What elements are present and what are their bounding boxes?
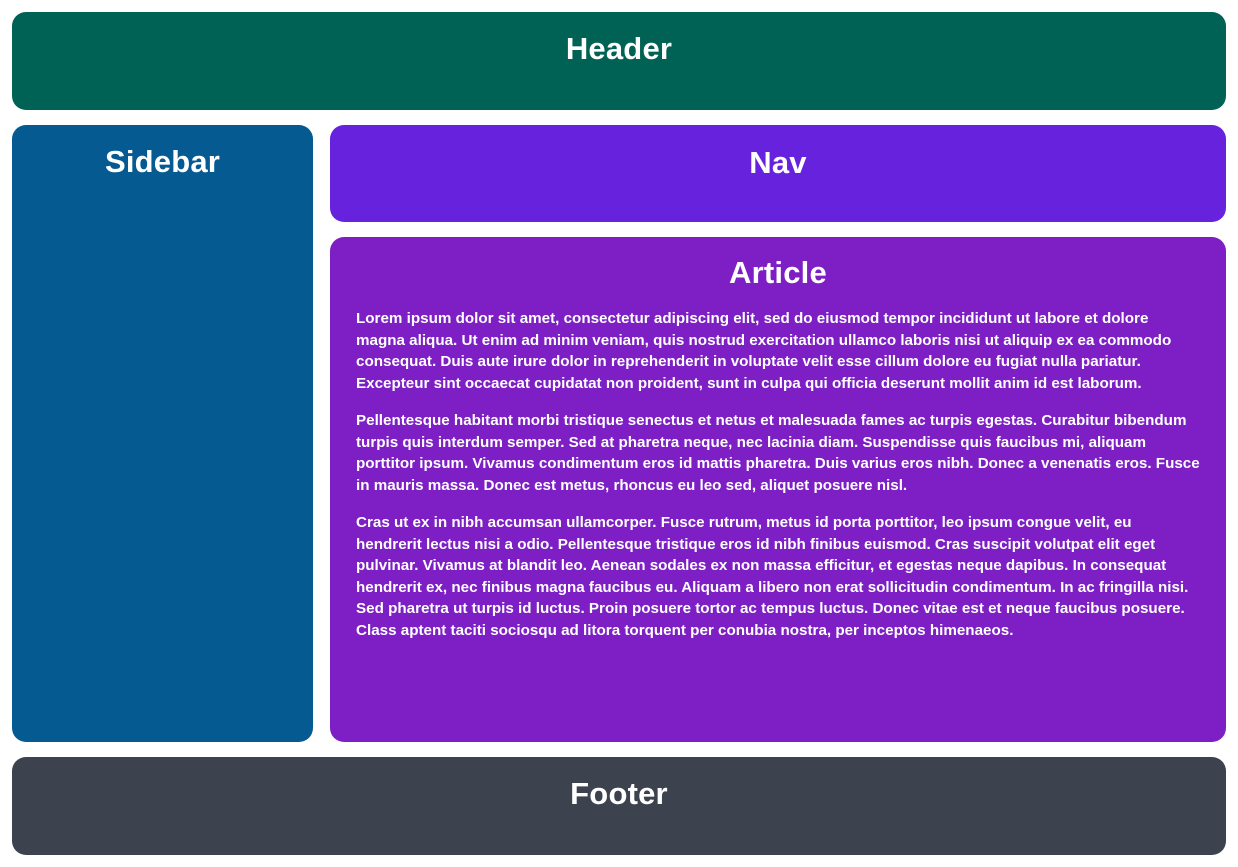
nav-title: Nav: [330, 144, 1226, 182]
page-layout-grid: Header Sidebar Nav Article Lorem ipsum d…: [0, 0, 1238, 867]
article-title: Article: [356, 254, 1200, 292]
article-region: Article Lorem ipsum dolor sit amet, cons…: [330, 237, 1226, 742]
article-paragraph: Pellentesque habitant morbi tristique se…: [356, 410, 1200, 496]
sidebar-region: Sidebar: [12, 125, 313, 742]
nav-region[interactable]: Nav: [330, 125, 1226, 222]
article-paragraph: Lorem ipsum dolor sit amet, consectetur …: [356, 308, 1200, 394]
footer-title: Footer: [12, 775, 1226, 813]
sidebar-title: Sidebar: [12, 143, 313, 181]
article-paragraph: Cras ut ex in nibh accumsan ullamcorper.…: [356, 512, 1200, 641]
header-title: Header: [12, 30, 1226, 68]
footer-region: Footer: [12, 757, 1226, 855]
header-region: Header: [12, 12, 1226, 110]
